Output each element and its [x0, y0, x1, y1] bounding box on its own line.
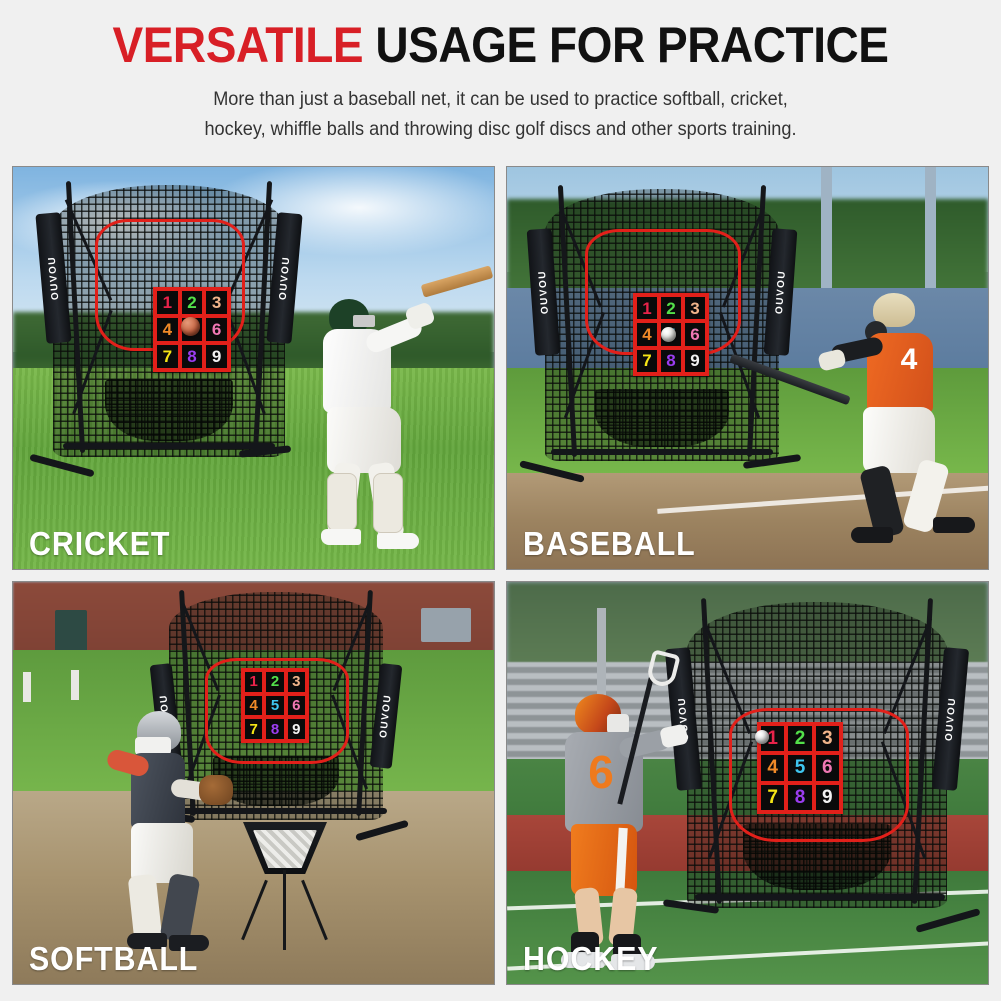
- target-cell-8[interactable]: 8: [661, 350, 681, 372]
- page-subtitle: More than just a baseball net, it can be…: [35, 84, 966, 144]
- panel-softball[interactable]: OUVOU OUVOU 1 2 3 4 5: [12, 581, 495, 985]
- panel-baseball[interactable]: OUVOU OUVOU 1 2 3 4 5: [506, 166, 989, 570]
- caddy-leg-center: [283, 870, 286, 950]
- base-bar: [551, 449, 773, 455]
- shoe-front: [377, 533, 419, 549]
- catchers-mitt: [199, 775, 233, 805]
- target-cell-3[interactable]: 3: [816, 726, 839, 751]
- shin-guard-front: [159, 873, 200, 943]
- target-cell-4[interactable]: 4: [157, 318, 178, 341]
- target-grid-hockey[interactable]: 1 2 3 4 5 6 7 8 9: [757, 722, 843, 814]
- cricket-bat: [421, 265, 494, 297]
- target-cell-8[interactable]: 8: [788, 785, 811, 810]
- target-cell-2[interactable]: 2: [661, 297, 681, 319]
- panel-hockey[interactable]: OUVOU OUVOU 1 2 3 4 5: [506, 581, 989, 985]
- target-cell-4[interactable]: 4: [761, 755, 784, 780]
- base-bar: [63, 443, 275, 449]
- target-cell-8[interactable]: 8: [266, 719, 283, 739]
- target-cell-5[interactable]: 5: [266, 696, 283, 716]
- target-cell-6[interactable]: 6: [816, 755, 839, 780]
- baseball-player: 4: [837, 277, 989, 567]
- target-cell-9[interactable]: 9: [206, 345, 227, 368]
- brand-logo-left: OUVOU: [536, 270, 550, 315]
- target-cell-7[interactable]: 7: [761, 785, 784, 810]
- subtitle-line-2: hockey, whiffle balls and throwing disc …: [35, 114, 966, 144]
- panel-label-baseball: BASEBALL: [523, 525, 696, 563]
- ball-pocket: [105, 379, 233, 441]
- target-cell-9[interactable]: 9: [816, 785, 839, 810]
- light-pole-left: [821, 167, 832, 296]
- panel-label-softball: SOFTBALL: [29, 940, 198, 978]
- caddy-leg-right: [301, 880, 328, 940]
- baseball-ball: [661, 327, 676, 342]
- target-cell-6[interactable]: 6: [685, 323, 705, 345]
- target-cell-1[interactable]: 1: [637, 297, 657, 319]
- target-cell-5[interactable]: 5: [788, 755, 811, 780]
- ball-pocket: [595, 389, 729, 447]
- shoe-back: [933, 517, 975, 533]
- target-cell-7[interactable]: 7: [157, 345, 178, 368]
- caddy-leg-left: [241, 880, 268, 940]
- panel-cricket[interactable]: OUVOU OUVOU 1 2 3 4 5: [12, 166, 495, 570]
- header: VERSATILE USAGE FOR PRACTICE More than j…: [0, 0, 1001, 160]
- page-title: VERSATILE USAGE FOR PRACTICE: [40, 20, 961, 70]
- hockey-player: 6: [557, 682, 737, 982]
- shoe-back: [321, 529, 361, 545]
- brand-logo-right: OUVOU: [943, 697, 958, 742]
- catcher-pants: [131, 823, 193, 883]
- leg-back: [128, 874, 163, 943]
- panel-grid: OUVOU OUVOU 1 2 3 4 5: [12, 166, 989, 989]
- target-cell-4[interactable]: 4: [637, 323, 657, 345]
- target-cell-3[interactable]: 3: [288, 672, 305, 692]
- jersey-number: 4: [897, 343, 921, 383]
- title-rest: USAGE FOR PRACTICE: [363, 17, 888, 73]
- target-cell-7[interactable]: 7: [637, 350, 657, 372]
- brand-logo-right: OUVOU: [378, 693, 394, 738]
- helmet-facemask: [607, 714, 629, 734]
- target-cell-2[interactable]: 2: [182, 291, 203, 314]
- field-marker-1: [23, 672, 31, 702]
- title-highlight: VERSATILE: [112, 17, 363, 73]
- field-marker-2: [71, 670, 79, 700]
- target-cell-9[interactable]: 9: [288, 719, 305, 739]
- panel-label-hockey: HOCKEY: [523, 940, 658, 978]
- target-cell-9[interactable]: 9: [685, 350, 705, 372]
- jersey-number: 6: [581, 744, 621, 800]
- target-cell-1[interactable]: 1: [245, 672, 262, 692]
- shoe-front: [851, 527, 893, 543]
- cricket-ball: [181, 317, 200, 336]
- player-glove: [659, 724, 689, 749]
- target-cell-2[interactable]: 2: [266, 672, 283, 692]
- brand-logo-right: OUVOU: [773, 270, 787, 315]
- target-cell-1[interactable]: 1: [157, 291, 178, 314]
- brand-logo-left: OUVOU: [46, 256, 61, 301]
- building-window: [421, 608, 471, 642]
- target-cell-8[interactable]: 8: [182, 345, 203, 368]
- ball-caddy: [235, 822, 335, 952]
- helmet-grille: [353, 315, 375, 327]
- panel-label-cricket: CRICKET: [29, 525, 170, 563]
- infographic-page: VERSATILE USAGE FOR PRACTICE More than j…: [0, 0, 1001, 1001]
- brand-logo-right: OUVOU: [277, 256, 292, 301]
- cricket-player: [303, 267, 493, 567]
- target-cell-6[interactable]: 6: [288, 696, 305, 716]
- pad-front: [373, 473, 403, 533]
- target-cell-2[interactable]: 2: [788, 726, 811, 751]
- subtitle-line-1: More than just a baseball net, it can be…: [35, 84, 966, 114]
- pad-back: [327, 473, 357, 531]
- target-cell-3[interactable]: 3: [685, 297, 705, 319]
- lacrosse-ball: [755, 730, 769, 744]
- target-cell-3[interactable]: 3: [206, 291, 227, 314]
- target-cell-6[interactable]: 6: [206, 318, 227, 341]
